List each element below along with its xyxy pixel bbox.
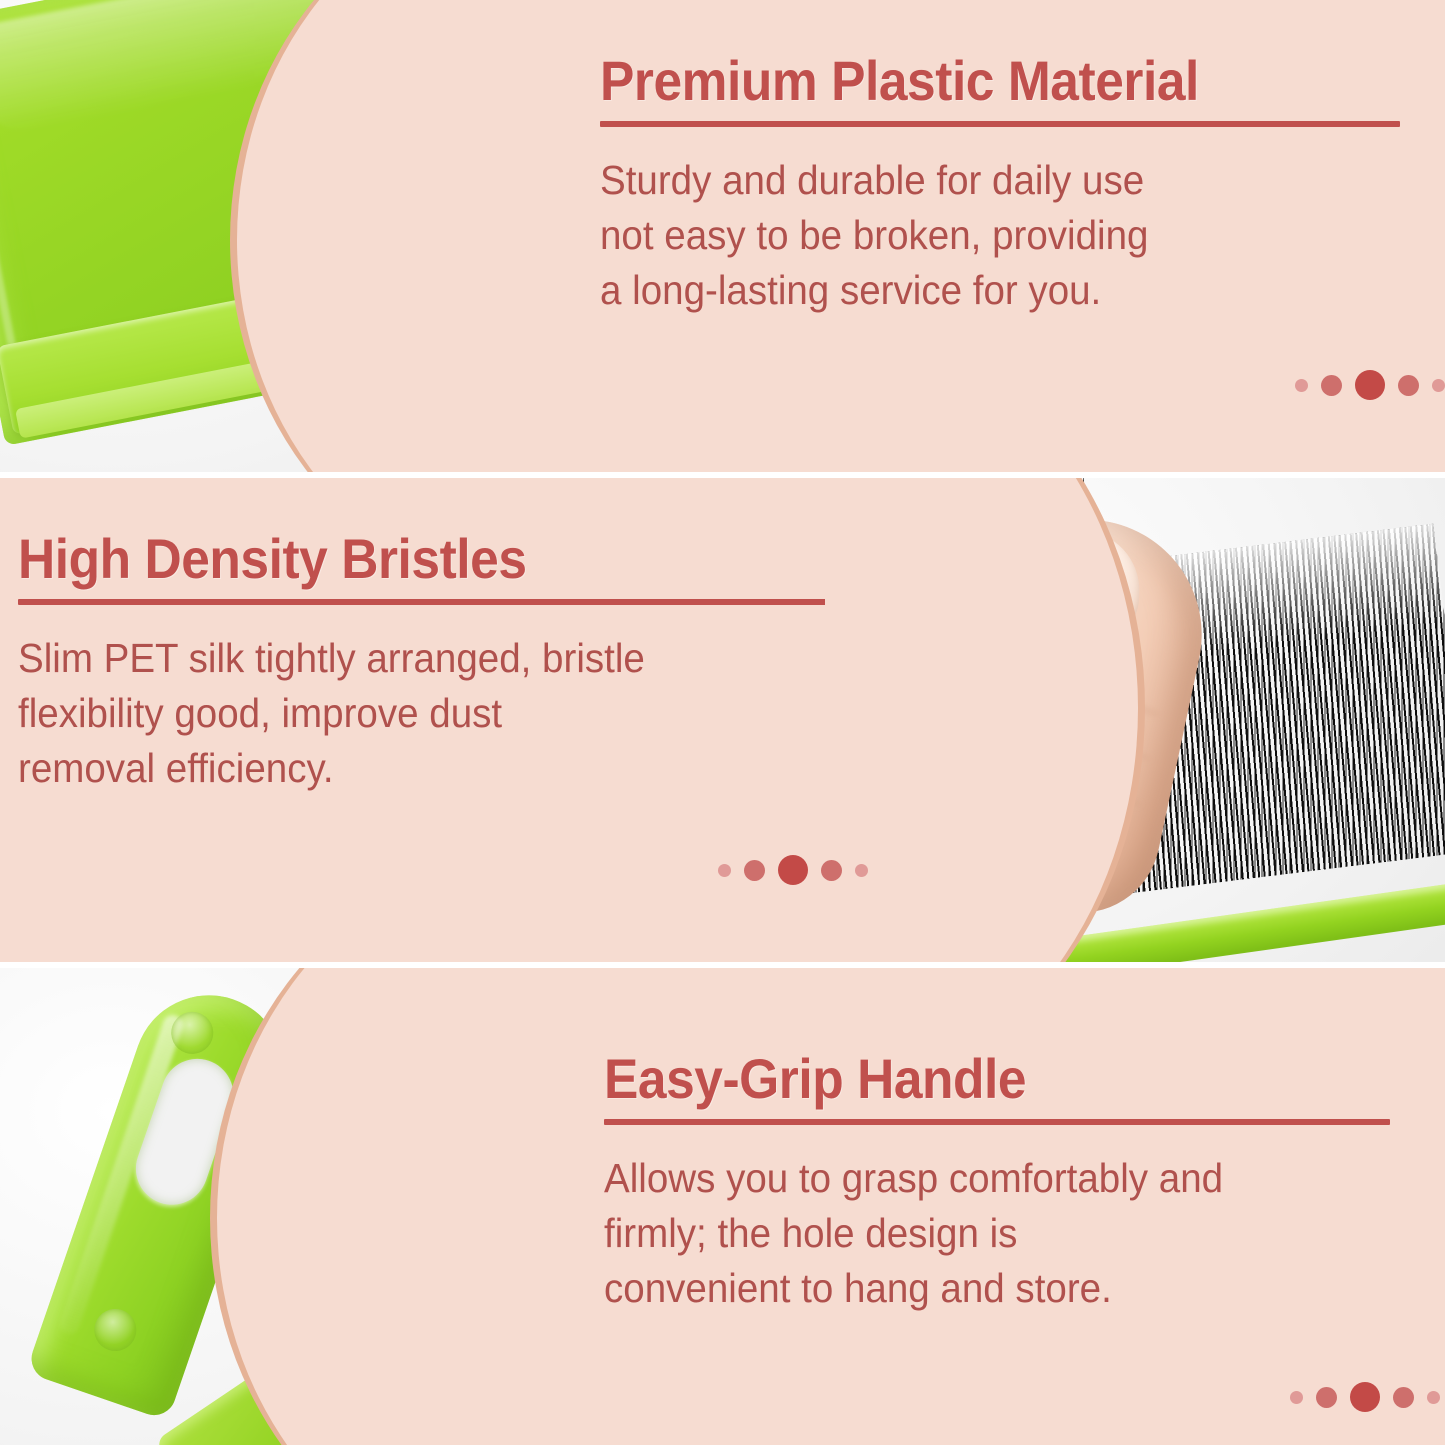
product-photo-handle [0,968,560,1445]
ornament-dot [855,864,868,877]
feature-text-premium-plastic-material: Premium Plastic Material Sturdy and dura… [600,52,1400,318]
ornament-dot [1321,375,1342,396]
title-underline [604,1119,1390,1125]
photo-curved-mask [210,968,560,1445]
ornament-dot [778,855,808,885]
ornament-dot [821,860,842,881]
ornament-dot [1355,370,1385,400]
ornament-dot [1290,1391,1303,1404]
feature-panel-high-density-bristles: High Density Bristles Slim PET silk tigh… [0,478,1445,962]
feature-title: Premium Plastic Material [600,52,1336,109]
dot-ornament [1295,370,1445,400]
feature-text-easy-grip-handle: Easy-Grip Handle Allows you to grasp com… [604,1050,1404,1316]
ornament-dot [718,864,731,877]
feature-body: Sturdy and durable for daily use not eas… [600,153,1352,318]
feature-title: Easy-Grip Handle [604,1050,1340,1107]
photo-curved-mask [825,478,1145,962]
handle-rivet [89,1303,142,1356]
ornament-dot [1316,1387,1337,1408]
photo-curved-mask [230,0,560,472]
ornament-dot [1350,1382,1380,1412]
title-underline [600,121,1400,127]
feature-title: High Density Bristles [18,530,763,587]
ornament-dot [1427,1391,1440,1404]
ornament-dot [1295,379,1308,392]
title-underline [18,599,830,605]
feature-body: Slim PET silk tightly arranged, bristle … [18,631,779,796]
ornament-dot [1393,1387,1414,1408]
product-photo-bristles [825,478,1445,962]
feature-panel-easy-grip-handle: Easy-Grip Handle Allows you to grasp com… [0,968,1445,1445]
feature-body: Allows you to grasp comfortably and firm… [604,1151,1356,1316]
dot-ornament [1290,1382,1440,1412]
ornament-dot [1398,375,1419,396]
feature-panel-premium-plastic-material: Premium Plastic Material Sturdy and dura… [0,0,1445,472]
ornament-dot [1432,379,1445,392]
ornament-dot [744,860,765,881]
infographic-sheet: Premium Plastic Material Sturdy and dura… [0,0,1445,1445]
feature-text-high-density-bristles: High Density Bristles Slim PET silk tigh… [18,530,828,796]
product-photo-dustpan [0,0,560,472]
dot-ornament [718,855,868,885]
